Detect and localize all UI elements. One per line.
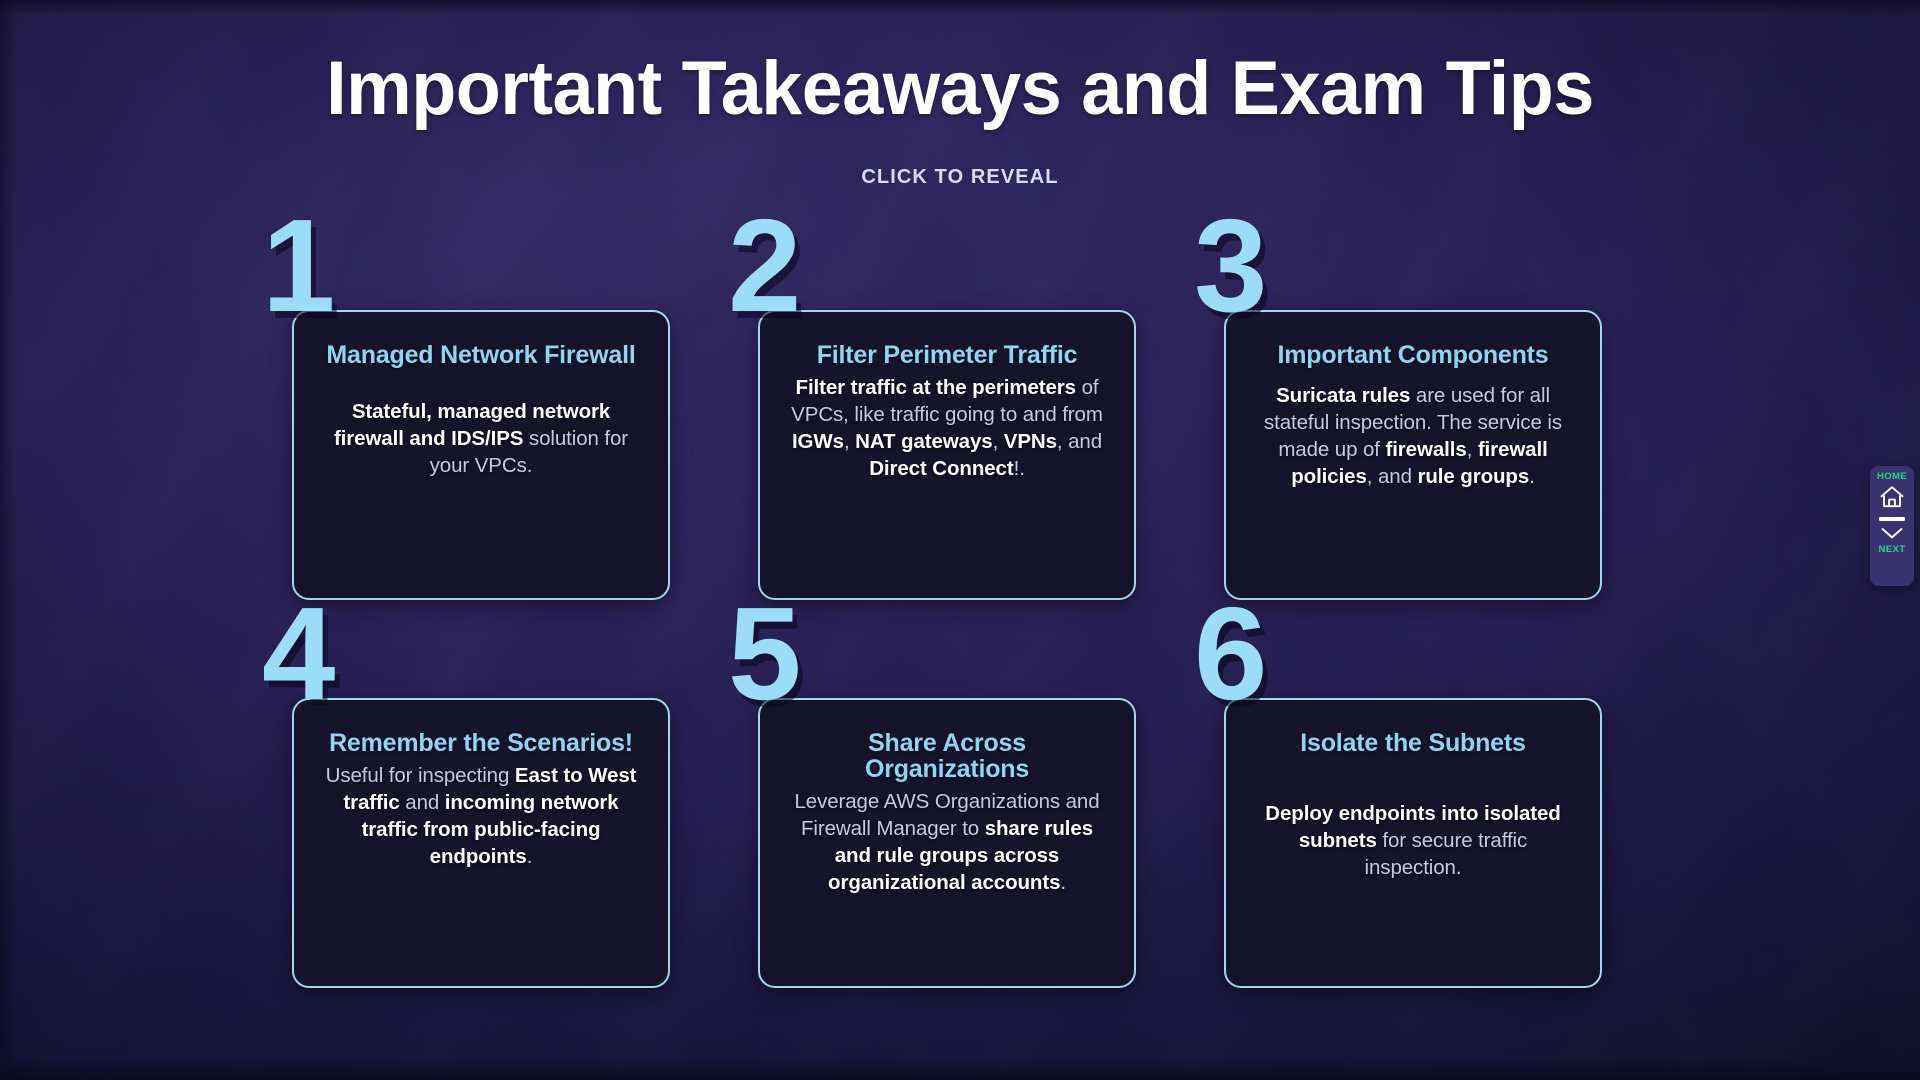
takeaway-cell-1: 1 Managed Network Firewall Stateful, man… [262, 248, 642, 598]
chevron-down-icon[interactable] [1880, 526, 1904, 545]
card-title-5: Share Across Organizations [788, 730, 1106, 782]
card-title-6: Isolate the Subnets [1254, 730, 1572, 756]
card-body-2: Filter traffic at the perimeters of VPCs… [788, 374, 1106, 482]
takeaway-card-2[interactable]: Filter Perimeter Traffic Filter traffic … [758, 310, 1136, 600]
takeaways-grid: 1 Managed Network Firewall Stateful, man… [262, 248, 1662, 986]
next-button-label: NEXT [1879, 545, 1906, 555]
card-number-4: 4 [262, 588, 332, 720]
card-title-2: Filter Perimeter Traffic [788, 342, 1106, 368]
card-body-3: Suricata rules are used for all stateful… [1254, 382, 1572, 490]
takeaway-cell-6: 6 Isolate the Subnets Deploy endpoints i… [1194, 636, 1574, 986]
takeaway-cell-3: 3 Important Components Suricata rules ar… [1194, 248, 1574, 598]
takeaway-cell-2: 2 Filter Perimeter Traffic Filter traffi… [728, 248, 1108, 598]
home-icon[interactable] [1879, 482, 1905, 509]
card-body-4: Useful for inspecting East to West traff… [322, 762, 640, 870]
takeaway-card-4[interactable]: Remember the Scenarios! Useful for inspe… [292, 698, 670, 988]
slide-stage: Important Takeaways and Exam Tips CLICK … [0, 0, 1920, 1080]
page-title: Important Takeaways and Exam Tips [29, 48, 1891, 130]
home-button-label: HOME [1877, 472, 1907, 482]
takeaway-cell-4: 4 Remember the Scenarios! Useful for ins… [262, 636, 642, 986]
takeaway-card-6[interactable]: Isolate the Subnets Deploy endpoints int… [1224, 698, 1602, 988]
takeaway-cell-5: 5 Share Across Organizations Leverage AW… [728, 636, 1108, 986]
card-title-1: Managed Network Firewall [322, 342, 640, 368]
divider [1879, 517, 1905, 521]
card-title-3: Important Components [1254, 342, 1572, 368]
card-number-1: 1 [262, 200, 332, 332]
card-body-5: Leverage AWS Organizations and Firewall … [788, 788, 1106, 896]
card-title-4: Remember the Scenarios! [322, 730, 640, 756]
card-body-1: Stateful, managed network firewall and I… [322, 398, 640, 479]
side-navigation-panel: HOME NEXT [1870, 466, 1914, 586]
page-subtitle: CLICK TO REVEAL [0, 166, 1920, 189]
card-body-6: Deploy endpoints into isolated subnets f… [1254, 800, 1572, 881]
card-number-3: 3 [1194, 200, 1264, 332]
card-number-2: 2 [728, 200, 798, 332]
card-number-5: 5 [728, 588, 798, 720]
card-number-6: 6 [1194, 588, 1264, 720]
takeaway-card-1[interactable]: Managed Network Firewall Stateful, manag… [292, 310, 670, 600]
takeaway-card-3[interactable]: Important Components Suricata rules are … [1224, 310, 1602, 600]
takeaway-card-5[interactable]: Share Across Organizations Leverage AWS … [758, 698, 1136, 988]
